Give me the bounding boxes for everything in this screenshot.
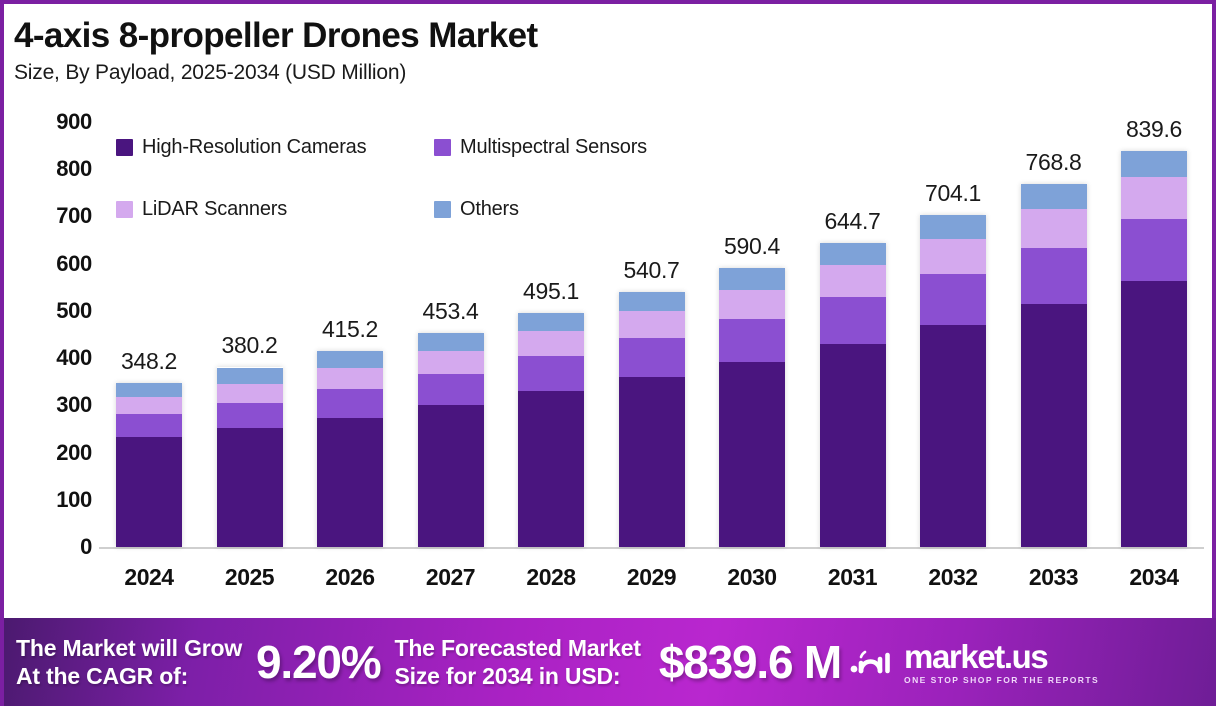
bar-segment[interactable]	[116, 414, 182, 437]
forecast-label-line1: The Forecasted Market	[394, 634, 640, 662]
bar-segment[interactable]	[217, 428, 283, 547]
bar-total-label: 415.2	[322, 316, 378, 343]
legend-label: High-Resolution Cameras	[142, 136, 366, 159]
header: 4-axis 8-propeller Drones Market Size, B…	[14, 18, 1194, 85]
bar-segment[interactable]	[920, 239, 986, 274]
bar-segment[interactable]	[418, 405, 484, 547]
bar-total-label: 380.2	[221, 332, 277, 359]
y-axis-tick: 100	[4, 487, 92, 513]
bar-segment[interactable]	[619, 338, 685, 377]
bar-total-label: 768.8	[1025, 149, 1081, 176]
y-axis-tick: 600	[4, 251, 92, 277]
x-axis-tick: 2025	[200, 564, 300, 591]
x-axis-tick: 2033	[1004, 564, 1104, 591]
bar-segment[interactable]	[317, 368, 383, 389]
x-axis-tick: 2031	[803, 564, 903, 591]
y-axis-tick: 700	[4, 203, 92, 229]
y-axis: 9008007006005004003002001000	[4, 122, 92, 547]
chart-legend: High-Resolution Cameras Multispectral Se…	[116, 136, 716, 221]
cagr-label: The Market will Grow At the CAGR of:	[16, 634, 242, 690]
bar-total-label: 644.7	[824, 208, 880, 235]
bar-segment[interactable]	[1021, 248, 1087, 304]
bar-stack[interactable]	[518, 313, 584, 547]
cagr-value: 9.20%	[256, 635, 380, 689]
bar-segment[interactable]	[920, 325, 986, 547]
x-axis-tick: 2024	[99, 564, 199, 591]
page-title: 4-axis 8-propeller Drones Market	[14, 18, 1194, 55]
bar-segment[interactable]	[518, 313, 584, 331]
bar-stack[interactable]	[820, 243, 886, 547]
bar-segment[interactable]	[518, 356, 584, 391]
footer-banner: The Market will Grow At the CAGR of: 9.2…	[4, 618, 1216, 706]
bar-segment[interactable]	[1021, 304, 1087, 547]
bar-segment[interactable]	[317, 418, 383, 547]
cagr-label-line2: At the CAGR of:	[16, 662, 242, 690]
y-axis-tick: 300	[4, 392, 92, 418]
bar-segment[interactable]	[719, 319, 785, 361]
bar-total-label: 453.4	[422, 298, 478, 325]
bar-segment[interactable]	[116, 383, 182, 397]
y-axis-tick: 900	[4, 109, 92, 135]
x-axis-tick: 2029	[602, 564, 702, 591]
legend-swatch-icon	[434, 201, 451, 218]
y-axis-tick: 500	[4, 298, 92, 324]
bar-segment[interactable]	[1121, 177, 1187, 219]
bar-column[interactable]: 768.8	[1004, 122, 1104, 547]
cagr-label-line1: The Market will Grow	[16, 634, 242, 662]
bar-segment[interactable]	[317, 351, 383, 368]
legend-swatch-icon	[116, 139, 133, 156]
bar-segment[interactable]	[820, 297, 886, 344]
brand-wordmark: market.us ONE STOP SHOP FOR THE REPORTS	[904, 640, 1099, 685]
bar-total-label: 495.1	[523, 278, 579, 305]
bar-stack[interactable]	[217, 367, 283, 547]
bar-segment[interactable]	[920, 274, 986, 325]
bar-segment[interactable]	[820, 265, 886, 297]
bar-segment[interactable]	[619, 377, 685, 547]
bar-column[interactable]: 644.7	[803, 122, 903, 547]
y-axis-tick: 200	[4, 440, 92, 466]
bar-segment[interactable]	[619, 311, 685, 338]
bar-segment[interactable]	[820, 243, 886, 266]
y-axis-tick: 0	[4, 534, 92, 560]
bar-segment[interactable]	[116, 437, 182, 547]
bar-segment[interactable]	[1021, 209, 1087, 248]
bar-segment[interactable]	[719, 290, 785, 319]
bar-stack[interactable]	[719, 268, 785, 547]
bar-stack[interactable]	[418, 333, 484, 547]
y-axis-tick: 800	[4, 156, 92, 182]
bar-stack[interactable]	[1021, 184, 1087, 547]
bar-segment[interactable]	[418, 374, 484, 405]
infographic-root: 4-axis 8-propeller Drones Market Size, B…	[0, 0, 1216, 706]
bar-segment[interactable]	[518, 331, 584, 356]
bar-stack[interactable]	[1121, 151, 1187, 547]
x-axis-tick: 2026	[300, 564, 400, 591]
bar-stack[interactable]	[619, 292, 685, 547]
page-subtitle: Size, By Payload, 2025-2034 (USD Million…	[14, 61, 1194, 85]
y-axis-tick: 400	[4, 345, 92, 371]
bar-segment[interactable]	[719, 362, 785, 547]
bar-column[interactable]: 839.6	[1104, 122, 1204, 547]
bar-column[interactable]: 590.4	[702, 122, 802, 547]
brand-name: market.us	[904, 640, 1099, 673]
brand-logo[interactable]: market.us ONE STOP SHOP FOR THE REPORTS	[849, 640, 1099, 685]
bar-segment[interactable]	[217, 403, 283, 428]
brand-tagline: ONE STOP SHOP FOR THE REPORTS	[904, 676, 1099, 685]
forecast-label-line2: Size for 2034 in USD:	[394, 662, 640, 690]
x-axis-tick: 2034	[1104, 564, 1204, 591]
bar-total-label: 348.2	[121, 348, 177, 375]
bar-segment[interactable]	[418, 351, 484, 374]
bar-segment[interactable]	[217, 384, 283, 403]
bar-segment[interactable]	[217, 368, 283, 384]
legend-swatch-icon	[116, 201, 133, 218]
forecast-label: The Forecasted Market Size for 2034 in U…	[394, 634, 640, 690]
legend-label: Multispectral Sensors	[460, 136, 647, 159]
legend-item-high-resolution-cameras[interactable]: High-Resolution Cameras	[116, 136, 434, 159]
bar-segment[interactable]	[1021, 184, 1087, 209]
bar-segment[interactable]	[1121, 281, 1187, 547]
legend-label: Others	[460, 198, 519, 221]
bar-segment[interactable]	[920, 215, 986, 239]
bar-total-label: 704.1	[925, 180, 981, 207]
x-axis: 2024202520262027202820292030203120322033…	[99, 564, 1204, 591]
bar-total-label: 590.4	[724, 233, 780, 260]
bar-total-label: 839.6	[1126, 116, 1182, 143]
bar-column[interactable]: 704.1	[903, 122, 1003, 547]
market-us-logo-icon	[849, 641, 895, 684]
legend-item-lidar-scanners[interactable]: LiDAR Scanners	[116, 198, 434, 221]
x-axis-tick: 2028	[501, 564, 601, 591]
bar-segment[interactable]	[1121, 219, 1187, 281]
bar-segment[interactable]	[820, 344, 886, 547]
bar-total-label: 540.7	[623, 257, 679, 284]
bar-segment[interactable]	[317, 389, 383, 418]
legend-swatch-icon	[434, 139, 451, 156]
bar-stack[interactable]	[317, 351, 383, 547]
bar-segment[interactable]	[518, 391, 584, 547]
bar-stack[interactable]	[116, 383, 182, 547]
x-axis-tick: 2030	[702, 564, 802, 591]
bar-segment[interactable]	[116, 397, 182, 414]
legend-label: LiDAR Scanners	[142, 198, 287, 221]
legend-item-multispectral-sensors[interactable]: Multispectral Sensors	[434, 136, 714, 159]
bar-segment[interactable]	[619, 292, 685, 312]
legend-item-others[interactable]: Others	[434, 198, 714, 221]
bar-segment[interactable]	[1121, 151, 1187, 177]
x-axis-tick: 2027	[401, 564, 501, 591]
x-axis-tick: 2032	[903, 564, 1003, 591]
bar-segment[interactable]	[418, 333, 484, 351]
forecast-value: $839.6 M	[659, 635, 841, 689]
x-axis-baseline	[99, 547, 1204, 549]
bar-segment[interactable]	[719, 268, 785, 290]
bar-stack[interactable]	[920, 215, 986, 547]
